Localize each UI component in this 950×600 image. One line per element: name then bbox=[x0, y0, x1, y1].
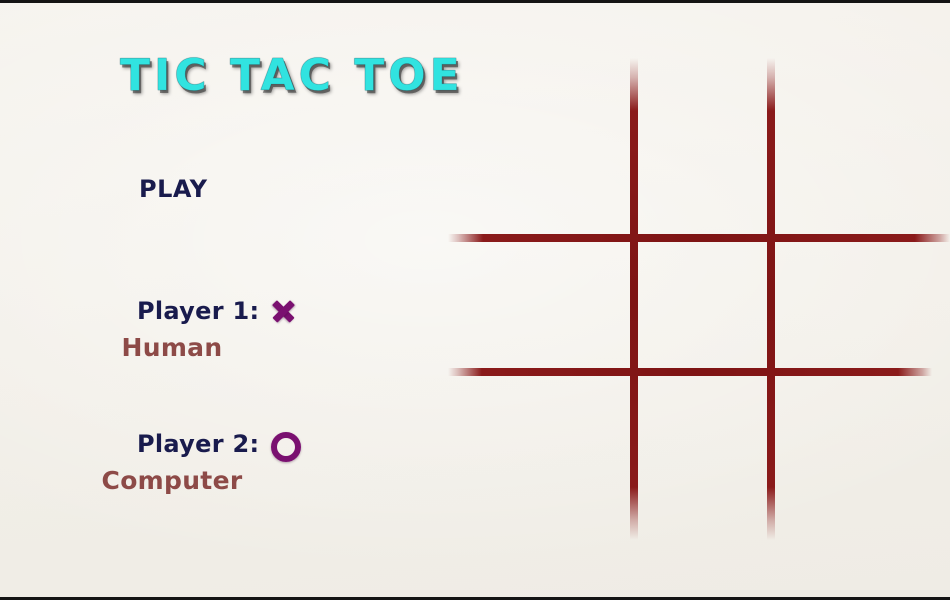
board-grid-line-vertical-1 bbox=[630, 58, 638, 540]
board-cell-0-0[interactable] bbox=[470, 70, 625, 230]
player-2-row[interactable]: Player 2: bbox=[0, 427, 450, 461]
o-mark-icon bbox=[269, 430, 297, 458]
board-cell-0-2[interactable] bbox=[777, 70, 937, 230]
board-cell-1-0[interactable] bbox=[470, 244, 625, 362]
tic-tac-toe-game-window: TIC TAC TOE PLAY Player 1: Human Player … bbox=[0, 0, 950, 600]
board-cell-1-2[interactable] bbox=[777, 244, 937, 362]
player-1-label: Player 1: bbox=[137, 297, 259, 325]
player-2-settings: Player 2: Computer bbox=[0, 427, 450, 495]
board-grid-line-horizontal-2 bbox=[448, 368, 932, 376]
player-2-label: Player 2: bbox=[137, 430, 259, 458]
board-cell-0-1[interactable] bbox=[640, 70, 762, 230]
board-grid-line-vertical-2 bbox=[767, 58, 775, 540]
player-1-row[interactable]: Player 1: bbox=[0, 294, 450, 328]
x-mark-icon bbox=[269, 297, 297, 325]
player-1-settings: Player 1: Human bbox=[0, 294, 450, 362]
player-2-type-selector[interactable]: Computer bbox=[0, 466, 344, 495]
player-1-type-selector[interactable]: Human bbox=[0, 333, 344, 362]
board-grid-line-horizontal-1 bbox=[448, 234, 950, 242]
play-button[interactable]: PLAY bbox=[139, 175, 208, 203]
page-title: TIC TAC TOE bbox=[120, 50, 464, 101]
board-cell-2-2[interactable] bbox=[777, 380, 937, 535]
menu-panel: TIC TAC TOE PLAY Player 1: Human Player … bbox=[0, 0, 450, 600]
board-cell-1-1[interactable] bbox=[640, 244, 762, 362]
board-cell-2-1[interactable] bbox=[640, 380, 762, 535]
board-cell-2-0[interactable] bbox=[470, 380, 625, 535]
window-top-edge-bar bbox=[0, 0, 950, 3]
